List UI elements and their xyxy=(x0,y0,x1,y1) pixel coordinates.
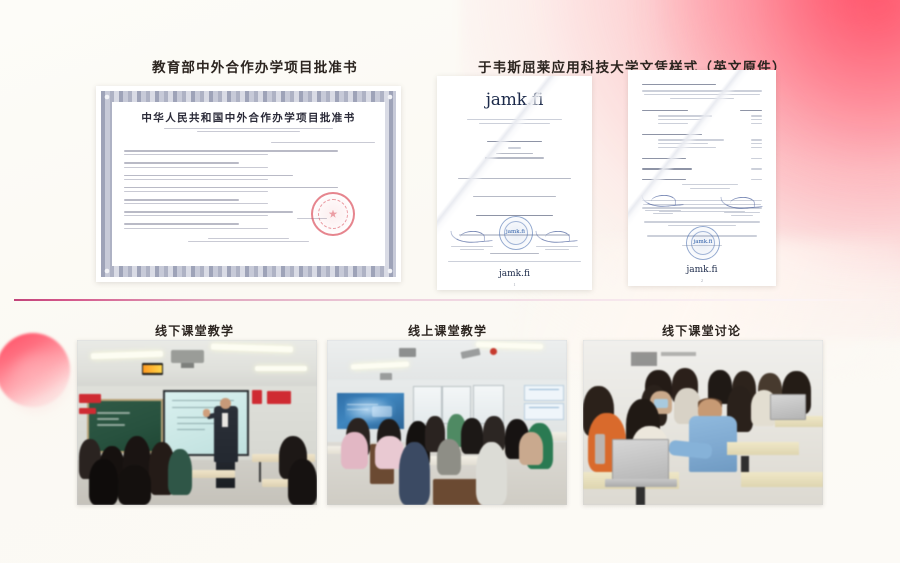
diploma-signature-right xyxy=(536,229,578,251)
diploma-dob-line xyxy=(485,157,544,158)
transcript-section-row xyxy=(642,110,762,111)
transcript-body: jamk.fi xyxy=(628,70,776,286)
classroom-scene xyxy=(77,340,317,505)
transcript-section-professional-studies xyxy=(642,134,702,135)
ceiling-speaker xyxy=(399,348,416,356)
caption-classroom-discussion: 线下课堂讨论 xyxy=(662,322,741,339)
transcript-section-row xyxy=(642,158,762,159)
transcript-section-row xyxy=(642,179,762,180)
diploma-page-number: 1 xyxy=(437,282,592,287)
diploma-address-line-2 xyxy=(479,123,550,124)
diploma-programme-line xyxy=(458,178,571,179)
caption-offline-teaching: 线下课堂教学 xyxy=(155,322,234,339)
transcript-section-practical-training xyxy=(642,168,692,169)
certificate-subtitle-line xyxy=(164,128,333,129)
transcript-course-group xyxy=(658,115,762,124)
laptop-icon xyxy=(770,394,806,419)
section-divider xyxy=(14,299,886,301)
diploma-heading-line xyxy=(487,141,541,142)
transcript-footer-wordmark: jamk.fi xyxy=(628,265,776,275)
transcript-signature-left xyxy=(642,193,683,215)
certificate-field-row xyxy=(124,180,373,192)
transcript-section-basic-studies xyxy=(642,110,688,111)
diploma-footer-wordmark: jamk.fi xyxy=(437,269,592,279)
diploma-entitled-line xyxy=(473,196,557,197)
jamk-blue-seal-icon: jamk.fi xyxy=(499,216,533,250)
red-official-seal-icon xyxy=(311,192,355,236)
left-pink-circle-glow xyxy=(8,352,78,416)
heading-moe-certificate: 教育部中外合作办学项目批准书 xyxy=(152,56,358,76)
jamk-wordmark-logo: jamk.fi xyxy=(453,90,576,110)
seal-text: jamk.fi xyxy=(500,229,532,235)
teacher-head xyxy=(220,398,231,410)
document-jamk-diploma[interactable]: jamk.fi xyxy=(437,76,592,290)
transcript-section-row xyxy=(642,134,762,135)
face-mask xyxy=(654,399,668,407)
transcript-section-bachelors-thesis xyxy=(642,179,686,180)
transcript-section-row xyxy=(642,168,762,169)
slide-root: 教育部中外合作办学项目批准书 于韦斯屈莱应用科技大学文凭样式（英文原件） 中华人… xyxy=(0,0,900,563)
document-moe-certificate[interactable]: 中华人民共和国中外合作办学项目批准书 xyxy=(96,86,401,282)
diploma-address-line xyxy=(467,119,563,120)
certificate-title: 中华人民共和国中外合作办学项目批准书 xyxy=(112,110,385,125)
photo-offline-teaching[interactable] xyxy=(77,340,317,505)
diploma-fineprint-line xyxy=(448,261,581,262)
wall-logo xyxy=(631,352,657,367)
seal-text: jamk.fi xyxy=(687,239,719,245)
transcript-thesis-detail xyxy=(658,184,762,189)
transcript-signature-right xyxy=(721,195,762,217)
transcript-section-elective-studies xyxy=(642,158,686,159)
projector-icon xyxy=(171,350,205,363)
diploma-signature-left xyxy=(451,229,493,251)
certificate-field-row xyxy=(124,143,373,155)
water-bottle xyxy=(595,434,605,464)
transcript-student-header xyxy=(642,84,716,85)
transcript-course-group xyxy=(658,139,762,148)
transcript-intro-line xyxy=(642,90,762,91)
laptop-icon xyxy=(612,439,669,484)
transcript-intro-line-2 xyxy=(644,94,759,95)
jamk-blue-seal-icon: jamk.fi xyxy=(686,226,720,260)
transcript-intro-line-3 xyxy=(670,98,735,99)
caption-online-teaching: 线上课堂教学 xyxy=(408,322,487,339)
diploma-place-date-line xyxy=(490,253,539,254)
certificate-field-row xyxy=(124,155,373,167)
certificate-subtitle-line-2 xyxy=(197,131,301,132)
certificate-inner-field: 中华人民共和国中外合作办学项目批准书 xyxy=(112,102,385,266)
certificate-issuer-subline xyxy=(188,241,308,242)
led-sign xyxy=(142,363,164,375)
document-jamk-transcript[interactable]: jamk.fi jamk.fi 2 xyxy=(628,70,776,286)
transcript-page-number: 2 xyxy=(628,278,776,283)
photo-classroom-discussion[interactable] xyxy=(583,340,823,505)
photo-online-teaching[interactable] xyxy=(327,340,567,505)
certificate-issuer-line xyxy=(208,238,290,239)
computer-lab-scene xyxy=(327,340,567,505)
transcript-credits-header xyxy=(740,110,762,111)
diploma-student-prefix xyxy=(508,147,520,148)
discussion-scene xyxy=(583,340,823,505)
diploma-body: jamk.fi xyxy=(437,76,592,290)
certificate-field-row xyxy=(124,168,373,180)
diploma-heading-block xyxy=(453,141,576,159)
diploma-student-name-line xyxy=(496,153,533,154)
